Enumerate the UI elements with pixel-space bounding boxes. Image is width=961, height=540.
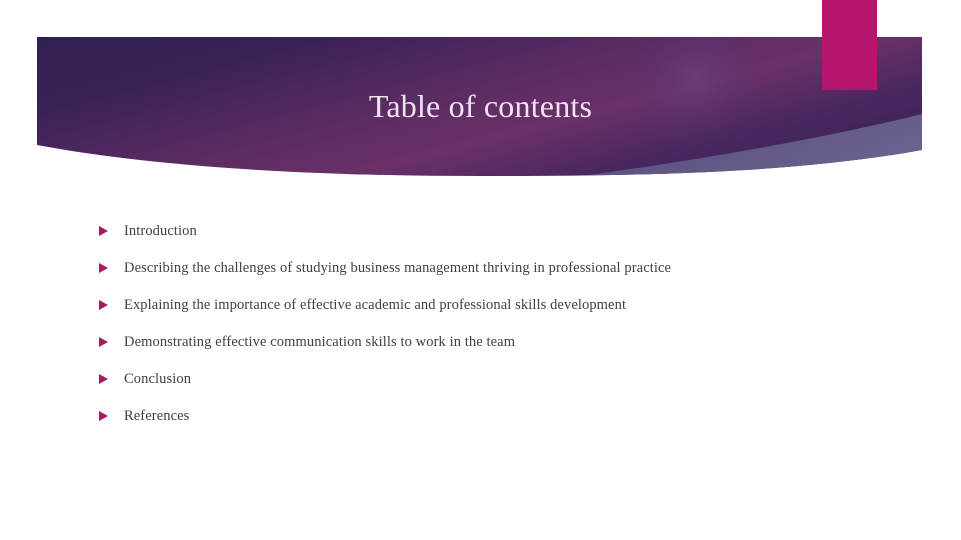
pink-accent-rectangle xyxy=(822,0,877,90)
list-item[interactable]: Demonstrating effective communication sk… xyxy=(96,323,896,360)
list-item-label: Introduction xyxy=(124,216,197,246)
list-item-label: Describing the challenges of studying bu… xyxy=(124,253,671,283)
list-item[interactable]: Explaining the importance of effective a… xyxy=(96,286,896,323)
page-title: Table of contents xyxy=(0,84,961,128)
triangle-right-icon xyxy=(99,411,108,421)
triangle-right-icon xyxy=(99,374,108,384)
list-item[interactable]: Introduction xyxy=(96,212,896,249)
triangle-right-icon xyxy=(99,226,108,236)
list-item[interactable]: Conclusion xyxy=(96,360,896,397)
list-item-label: Conclusion xyxy=(124,364,191,394)
slide-canvas: Table of contents Introduction Describin… xyxy=(0,0,961,540)
triangle-right-icon xyxy=(99,263,108,273)
list-item[interactable]: Describing the challenges of studying bu… xyxy=(96,249,896,286)
list-item-label: References xyxy=(124,401,189,431)
toc-list: Introduction Describing the challenges o… xyxy=(96,212,896,434)
list-item-label: Demonstrating effective communication sk… xyxy=(124,327,515,357)
list-item[interactable]: References xyxy=(96,397,896,434)
list-item-label: Explaining the importance of effective a… xyxy=(124,290,626,320)
triangle-right-icon xyxy=(99,300,108,310)
triangle-right-icon xyxy=(99,337,108,347)
